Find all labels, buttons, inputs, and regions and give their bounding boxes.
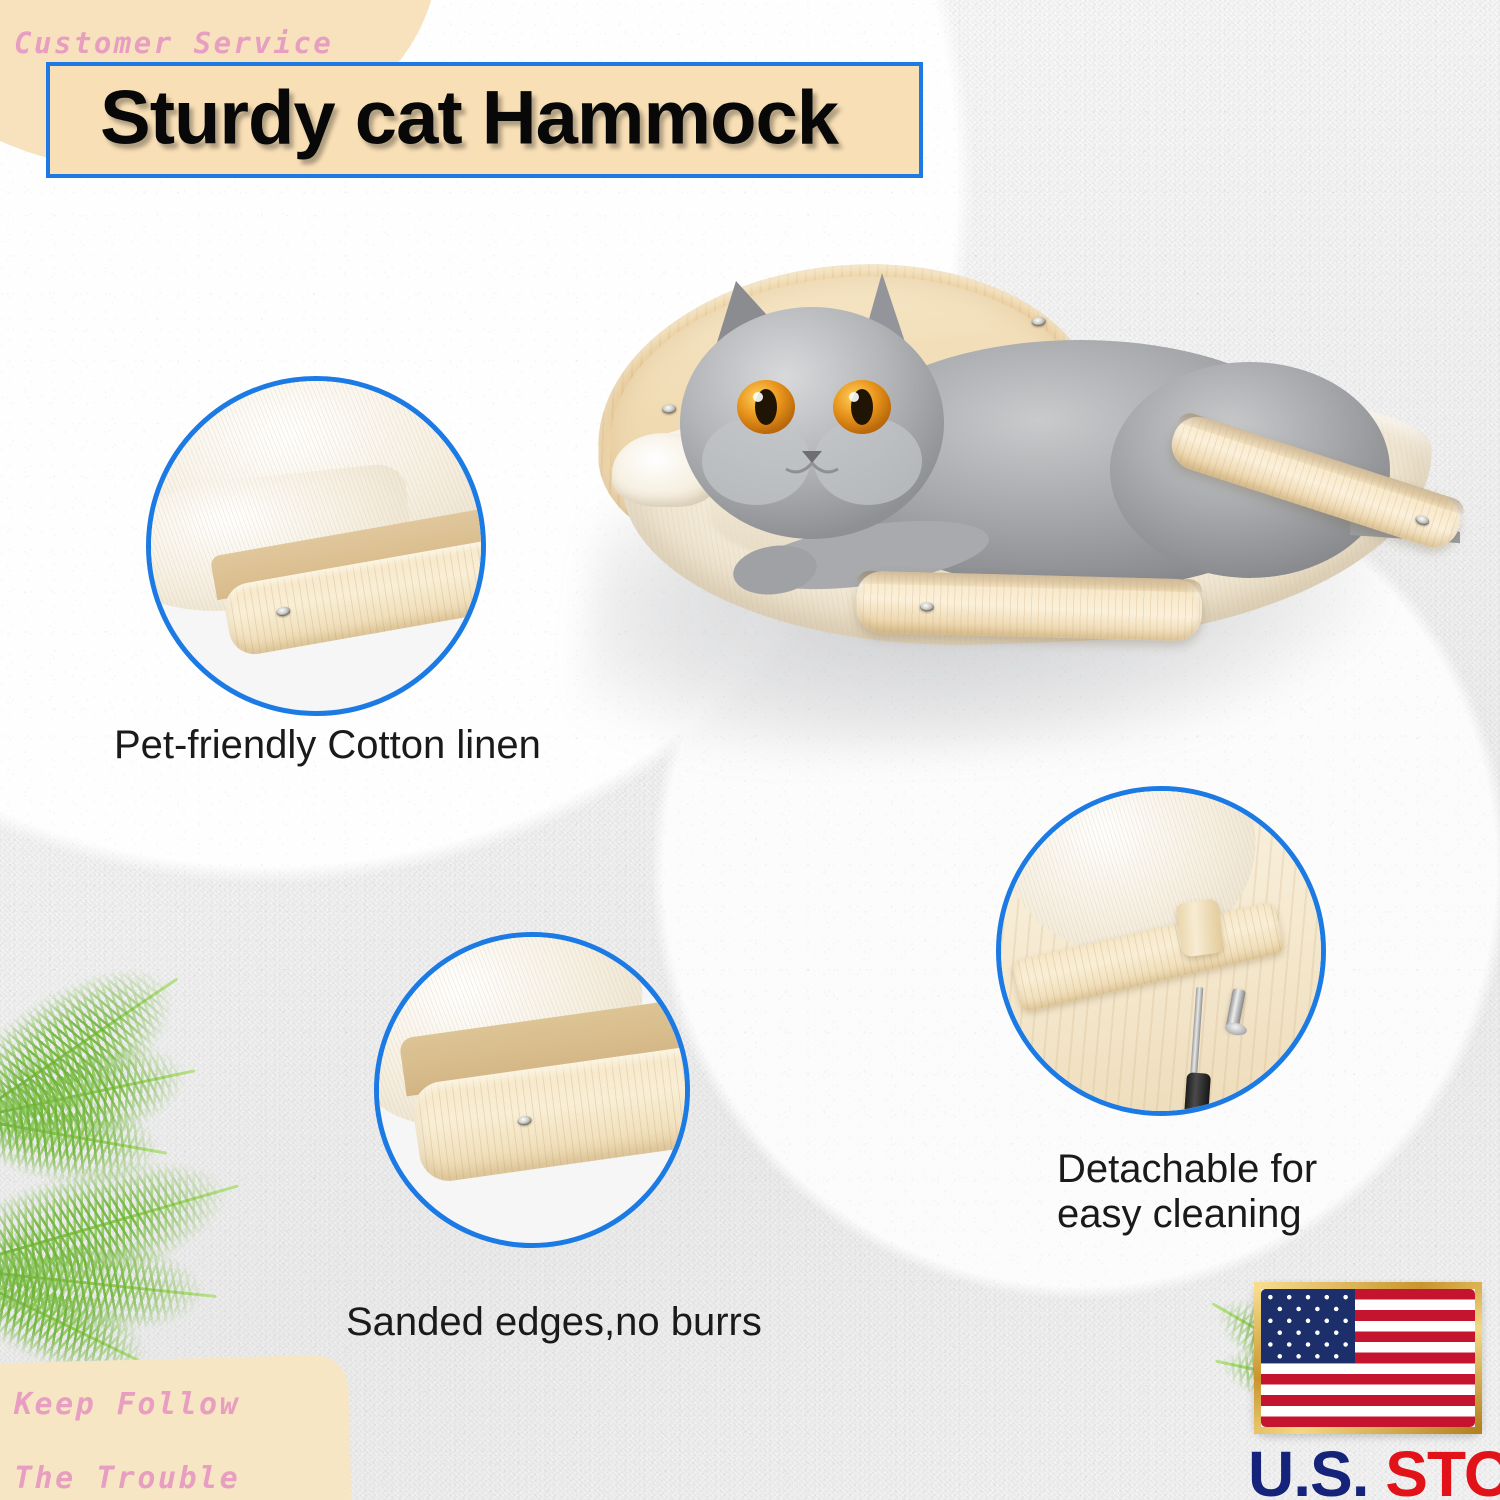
- screwdriver-handle-icon: [1183, 1072, 1211, 1116]
- title-banner: Sturdy cat Hammock: [46, 62, 923, 178]
- caption-sanded-edges: Sanded edges,no burrs: [346, 1300, 762, 1345]
- feature-circle-sanded-edges: [374, 932, 690, 1248]
- rail-screw: [1414, 514, 1430, 527]
- keep-follow-line1: Keep Follow: [14, 1387, 240, 1422]
- rail-screw: [517, 1115, 532, 1126]
- caption-detachable: Detachable for easy cleaning: [1057, 1147, 1317, 1237]
- hammock-rail-front: [855, 570, 1203, 641]
- us-stock-badge: U.S. STOCK: [1254, 1282, 1482, 1434]
- us-flag-icon: [1254, 1282, 1482, 1434]
- hero-product-photo: [560, 255, 1460, 725]
- customer-service-label: Customer Service: [14, 26, 333, 60]
- us-stock-label: U.S. STOCK: [1248, 1442, 1500, 1500]
- us-stock-prefix: U.S.: [1248, 1438, 1368, 1500]
- keep-follow-line2: The Trouble: [14, 1461, 240, 1496]
- caption-cotton-linen: Pet-friendly Cotton linen: [114, 723, 541, 768]
- flag-stars: [1261, 1289, 1355, 1363]
- rail-screw: [276, 606, 291, 617]
- flag-canton: [1261, 1289, 1355, 1363]
- feature-circle-cotton-linen: [146, 376, 486, 716]
- feature-circle-detachable: [996, 786, 1326, 1116]
- rail-screw: [920, 602, 934, 611]
- wooden-dowel: [1175, 898, 1224, 957]
- product-listing-image: Customer Service Sturdy cat Hammock: [0, 0, 1500, 1500]
- us-stock-word: STOCK: [1385, 1438, 1500, 1500]
- page-title: Sturdy cat Hammock: [100, 80, 838, 156]
